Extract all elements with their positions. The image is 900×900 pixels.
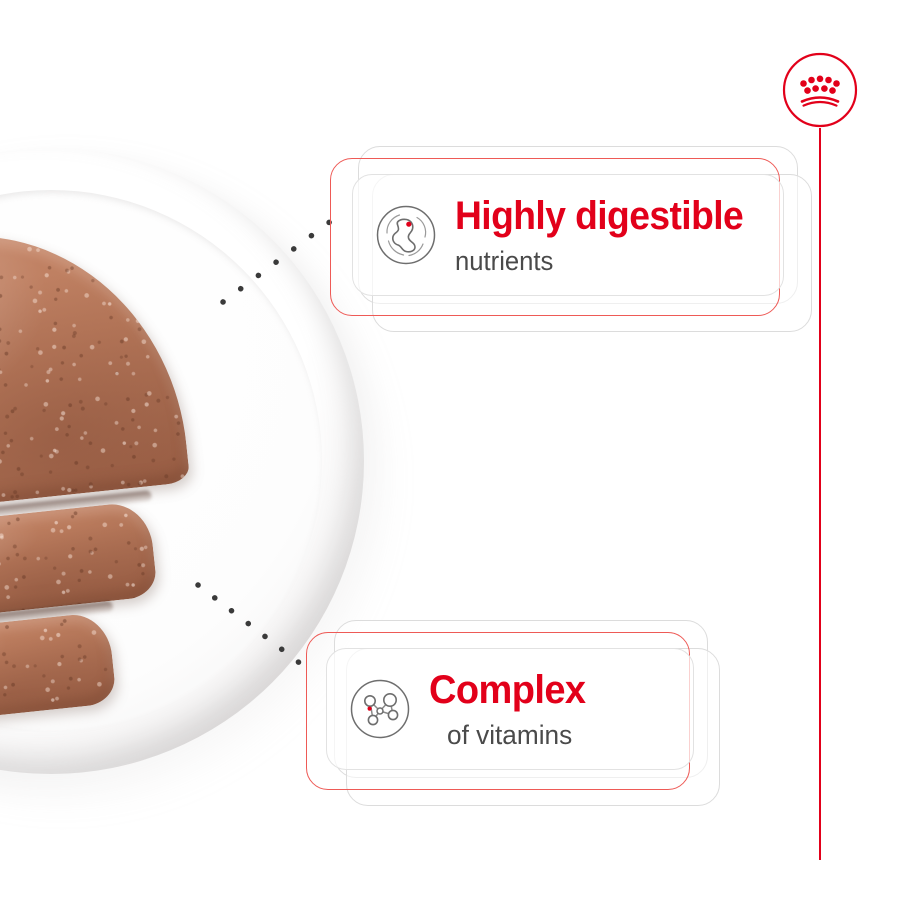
card-subtitle: of vitamins bbox=[447, 722, 572, 749]
molecule-network-icon bbox=[349, 678, 411, 740]
card-subtitle: nutrients bbox=[455, 248, 749, 275]
card-content: Complex of vitamins bbox=[326, 648, 694, 770]
card-title: Complex bbox=[429, 670, 585, 710]
brand-stem-line bbox=[819, 128, 821, 860]
benefit-card-highly-digestible[interactable]: Highly digestible nutrients bbox=[330, 146, 810, 336]
card-content: Highly digestible nutrients bbox=[352, 174, 784, 296]
card-text-block: Highly digestible nutrients bbox=[455, 196, 765, 275]
pate-main-piece bbox=[0, 215, 190, 525]
card-title: Highly digestible bbox=[455, 196, 743, 236]
benefit-card-complex-of-vitamins[interactable]: Complex of vitamins bbox=[306, 620, 726, 810]
royal-canin-crown-icon bbox=[782, 52, 858, 128]
stomach-digestion-icon bbox=[375, 204, 437, 266]
benefits-infographic: Highly digestible nutrients bbox=[0, 0, 900, 900]
card-text-block: Complex of vitamins bbox=[429, 670, 594, 749]
